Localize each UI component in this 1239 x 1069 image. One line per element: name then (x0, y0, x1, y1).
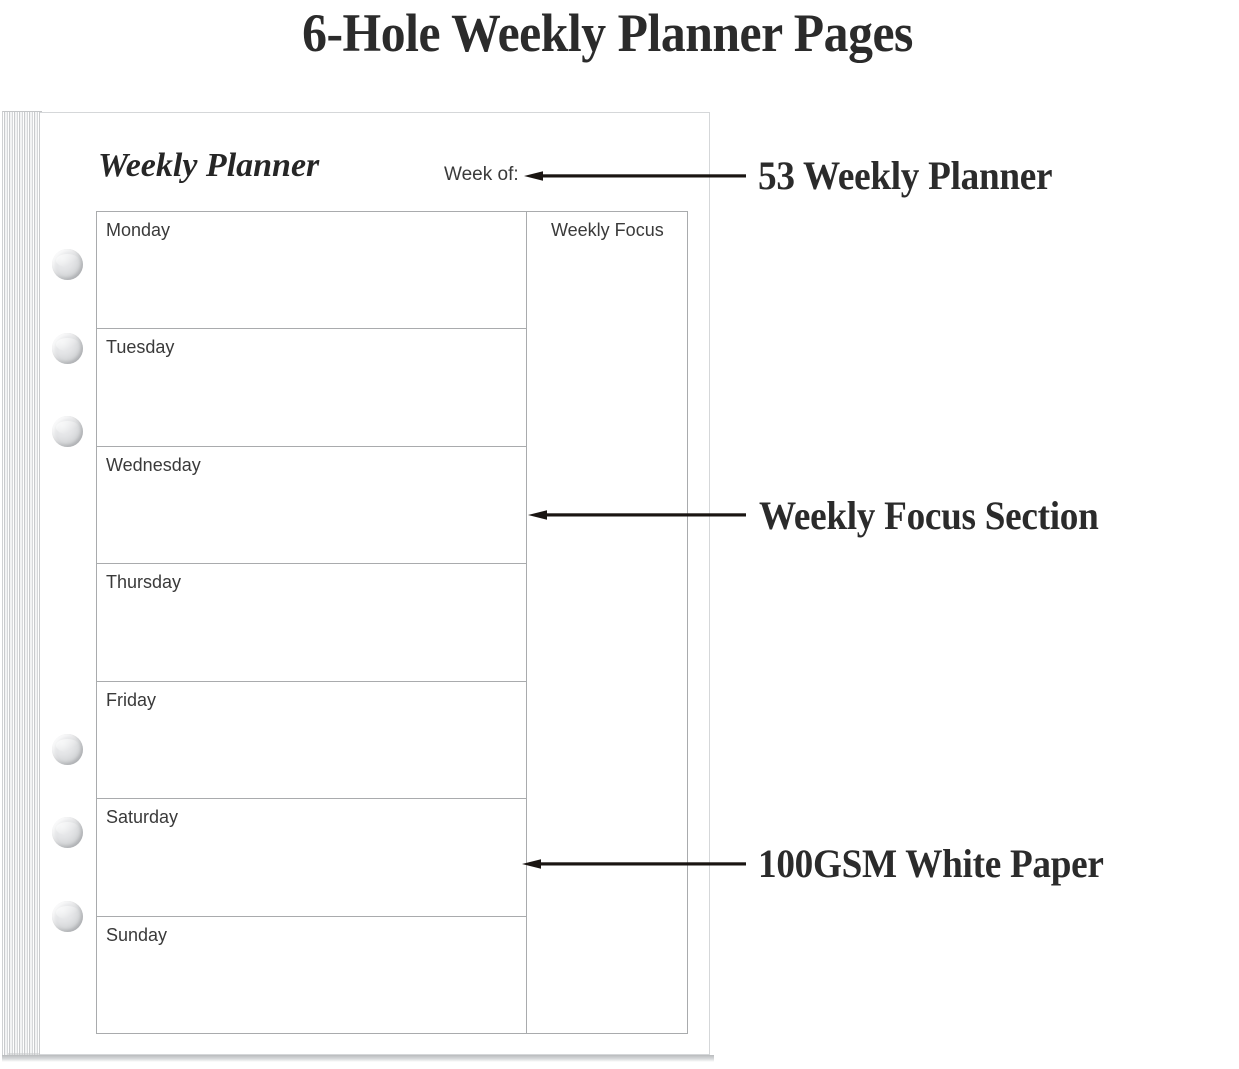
punch-hole-4 (52, 734, 83, 765)
stacked-sheets-edge (2, 111, 42, 1055)
planner-paper-stack: Weekly Planner Week of: Monday Tuesday W… (2, 110, 714, 1060)
day-label: Tuesday (106, 336, 174, 358)
day-cell-tuesday[interactable]: Tuesday (97, 329, 526, 446)
planner-page: Weekly Planner Week of: Monday Tuesday W… (40, 112, 710, 1055)
day-label: Monday (106, 219, 170, 241)
day-label: Friday (106, 689, 156, 711)
day-label: Saturday (106, 806, 178, 828)
stack-drop-shadow (2, 1055, 714, 1062)
day-cell-wednesday[interactable]: Wednesday (97, 447, 526, 564)
days-column: Monday Tuesday Wednesday Thursday Friday… (96, 211, 526, 1034)
day-cell-saturday[interactable]: Saturday (97, 799, 526, 916)
punch-hole-2 (52, 333, 83, 364)
weekly-focus-column[interactable]: Weekly Focus (526, 211, 688, 1034)
annotation-label-weekly-focus-section: Weekly Focus Section (759, 493, 1099, 539)
week-of-field-label: Week of: (444, 164, 519, 186)
punch-hole-6 (52, 901, 83, 932)
day-label: Sunday (106, 924, 167, 946)
day-cell-thursday[interactable]: Thursday (97, 564, 526, 681)
page-title: 6-Hole Weekly Planner Pages (49, 2, 1167, 64)
annotation-arrow-3 (522, 856, 746, 872)
day-cell-sunday[interactable]: Sunday (97, 917, 526, 1033)
punch-hole-3 (52, 416, 83, 447)
annotation-label-paper-weight: 100GSM White Paper (758, 841, 1104, 887)
day-cell-friday[interactable]: Friday (97, 682, 526, 799)
day-label: Wednesday (106, 454, 201, 476)
weekly-focus-label: Weekly Focus (551, 219, 664, 241)
planner-heading: Weekly Planner (98, 147, 319, 185)
day-label: Thursday (106, 571, 181, 593)
annotation-arrow-2 (528, 507, 746, 523)
punch-hole-1 (52, 249, 83, 280)
annotation-arrow-1 (524, 168, 746, 184)
punch-hole-5 (52, 817, 83, 848)
planner-grid: Monday Tuesday Wednesday Thursday Friday… (96, 211, 688, 1034)
day-cell-monday[interactable]: Monday (97, 212, 526, 329)
annotation-label-weekly-planner: 53 Weekly Planner (758, 153, 1052, 199)
